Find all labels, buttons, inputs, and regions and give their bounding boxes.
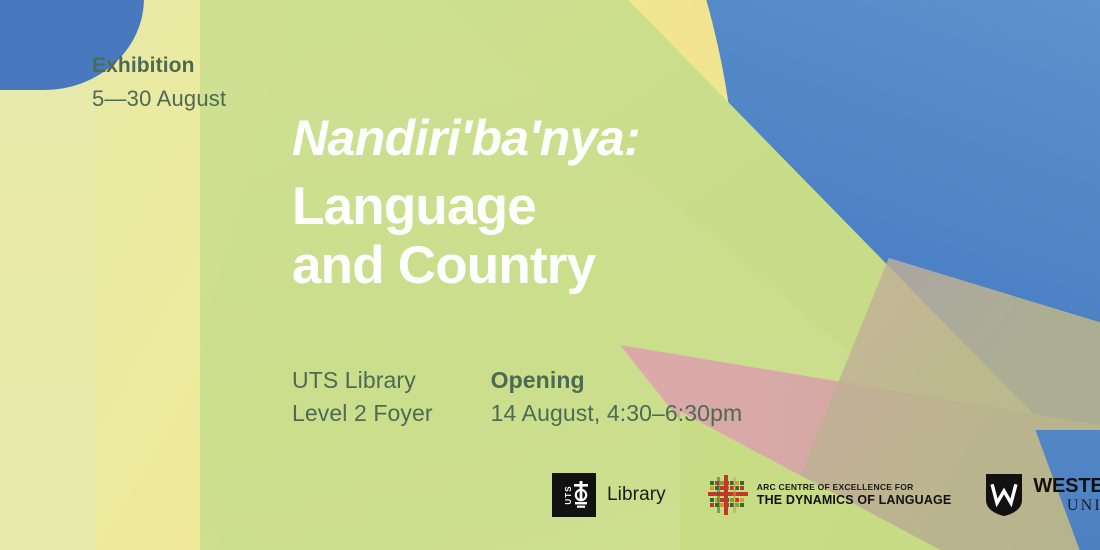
uts-library-logo[interactable]: UTS Library [552,473,666,517]
western-sydney-university-logo[interactable]: WESTERN SYDNEY UNIVERSITY [985,473,1100,517]
eyebrow-dates: 5—30 August [92,84,226,113]
venue-column: UTS Library Level 2 Foyer [292,364,433,429]
title-line-3: and Country [292,236,640,295]
wsu-shield-icon [985,473,1023,517]
uts-emblem-icon [571,481,591,509]
uts-library-label: Library [607,484,666,506]
arc-wordmark: ARC CENTRE OF EXCELLENCE FOR THE DYNAMIC… [757,483,952,508]
arc-line-1: ARC CENTRE OF EXCELLENCE FOR [757,483,952,493]
page-title: Nandiri'ba'nya: Language and Country [292,112,640,296]
venue-line-2: Level 2 Foyer [292,397,433,430]
title-line-2: Language [292,177,640,236]
arc-grid-icon [708,475,748,515]
venue-line-1: UTS Library [292,364,433,397]
arc-line-2: THE DYNAMICS OF LANGUAGE [757,493,952,507]
wsu-wordmark: WESTERN SYDNEY UNIVERSITY [1033,476,1100,514]
details-block: UTS Library Level 2 Foyer Opening 14 Aug… [292,364,742,429]
exhibition-poster: Exhibition 5—30 August Nandiri'ba'nya: L… [0,0,1100,550]
poster-content: Exhibition 5—30 August Nandiri'ba'nya: L… [0,0,1100,550]
title-line-1: Nandiri'ba'nya: [292,112,640,165]
uts-logo-icon: UTS [552,473,596,517]
opening-datetime: 14 August, 4:30–6:30pm [491,397,743,430]
wsu-line-1: WESTERN SYDNEY [1033,476,1100,496]
wsu-line-2: UNIVERSITY [1033,498,1100,514]
eyebrow-kicker: Exhibition [92,52,226,80]
opening-column: Opening 14 August, 4:30–6:30pm [491,364,743,429]
arc-centre-logo[interactable]: ARC CENTRE OF EXCELLENCE FOR THE DYNAMIC… [708,475,952,515]
partner-logos: UTS Library [552,473,1100,517]
opening-label: Opening [491,364,743,397]
eyebrow-block: Exhibition 5—30 August [92,52,226,113]
